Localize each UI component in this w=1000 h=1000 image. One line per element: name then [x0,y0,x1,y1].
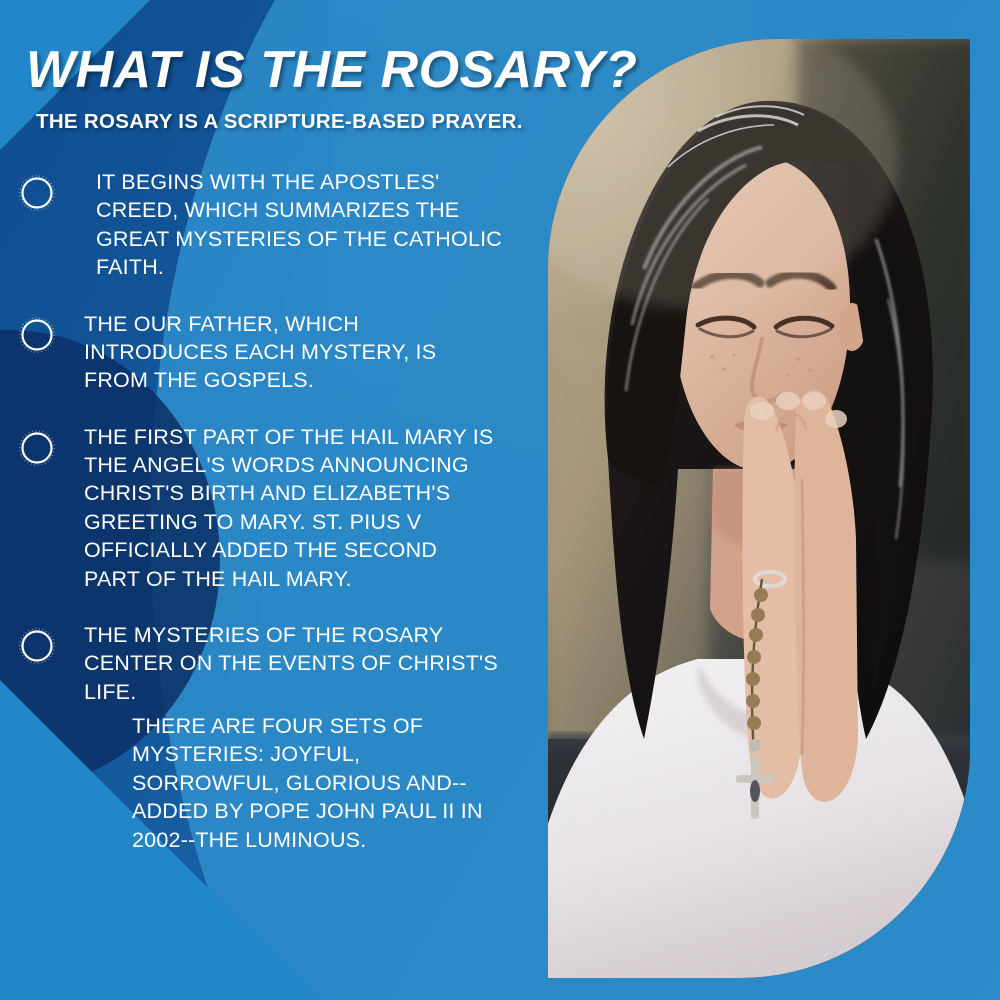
page-subtitle: THE ROSARY IS A SCRIPTURE-BASED PRAYER. [36,110,523,134]
list-item-text: IT BEGINS WITH THE APOSTLES' CREED, WHIC… [96,168,560,282]
list-item: THE OUR FATHER, WHICH INTRODUCES EACH MY… [0,310,560,395]
text-column: WHAT IS THE ROSARY? THE ROSARY IS A SCRI… [0,0,560,1000]
circle-ring-icon [18,316,56,354]
woman-praying-with-rosary-photo [548,39,970,978]
list-item-subnote: THERE ARE FOUR SETS OF MYSTERIES: JOYFUL… [84,712,560,854]
circle-ring-icon [18,627,56,665]
list-item: IT BEGINS WITH THE APOSTLES' CREED, WHIC… [0,168,560,282]
circle-ring-icon [18,174,56,212]
circle-ring-icon [18,429,56,467]
list-item: THE FIRST PART OF THE HAIL MARY IS THE A… [0,423,560,593]
bullet-list: IT BEGINS WITH THE APOSTLES' CREED, WHIC… [0,168,560,882]
list-item-text: THE OUR FATHER, WHICH INTRODUCES EACH MY… [84,310,560,395]
rosary-infographic-poster: WHAT IS THE ROSARY? THE ROSARY IS A SCRI… [0,0,1000,1000]
page-title: WHAT IS THE ROSARY? [26,40,637,100]
list-item-text: THE MYSTERIES OF THE ROSARY CENTER ON TH… [84,621,560,706]
list-item-text: THE FIRST PART OF THE HAIL MARY IS THE A… [84,423,560,593]
list-item: THE MYSTERIES OF THE ROSARY CENTER ON TH… [0,621,560,854]
